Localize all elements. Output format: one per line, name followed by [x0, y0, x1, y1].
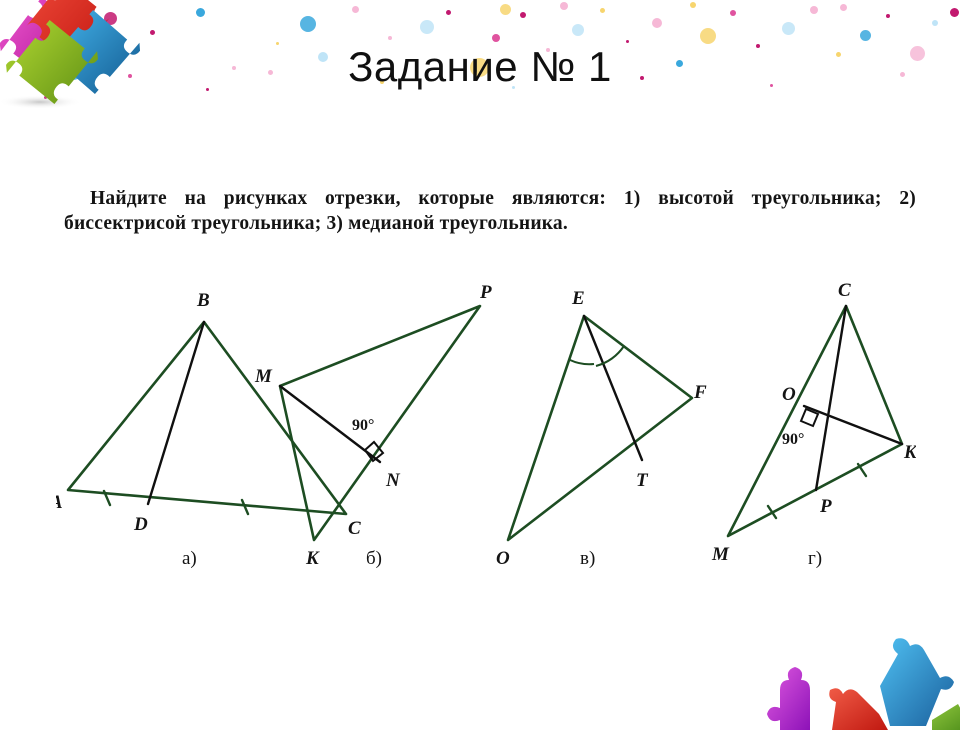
- confetti-dot: [810, 6, 818, 14]
- confetti-dot: [500, 4, 511, 15]
- triangle-oef-sides: [508, 316, 692, 540]
- label-b-vertex-K: K: [305, 548, 320, 568]
- label-d-vertex-P: P: [819, 496, 832, 517]
- confetti-dot: [560, 2, 568, 10]
- confetti-dot: [104, 12, 117, 25]
- label-a-vertex-D: D: [133, 514, 148, 535]
- confetti-dot: [730, 10, 736, 16]
- label-c-vertex-T: T: [636, 470, 649, 491]
- label-b-vertex-N: N: [385, 470, 401, 491]
- label-d-vertex-M: M: [711, 544, 730, 565]
- confetti-dot: [572, 24, 584, 36]
- figure-c: E F O T в): [496, 288, 707, 568]
- confetti-dot: [600, 8, 605, 13]
- label-c-vertex-F: F: [693, 382, 707, 403]
- median-bd: [148, 322, 204, 504]
- figure-b: M K P N 90° б): [254, 282, 492, 568]
- confetti-dot: [196, 8, 205, 17]
- confetti-dot: [886, 14, 890, 18]
- problem-statement: Найдите на рисунках отрезки, которые явл…: [64, 186, 916, 236]
- worksheet-scan: Найдите на рисунках отрезки, которые явл…: [56, 186, 916, 566]
- label-b-vertex-M: M: [254, 366, 273, 387]
- confetti-dot: [860, 30, 871, 41]
- slide-canvas: Задание № 1 Найдите на рисунках отрезки,…: [0, 0, 960, 720]
- confetti-dot: [626, 40, 629, 43]
- angle-label-d: 90°: [782, 431, 804, 448]
- confetti-dot: [520, 12, 526, 18]
- label-a-vertex-A: A: [56, 492, 63, 513]
- confetti-dot: [950, 8, 959, 17]
- confetti-dot: [44, 96, 47, 99]
- confetti-dot: [150, 30, 155, 35]
- caption-fig-b: б): [366, 548, 382, 568]
- angle-label-b: 90°: [352, 417, 374, 434]
- figure-d: C K M O P 90° г): [711, 280, 916, 568]
- caption-fig-a: а): [182, 548, 197, 568]
- figure-a: A B C D а): [56, 290, 361, 568]
- confetti-dot: [932, 20, 938, 26]
- label-a-vertex-B: B: [196, 290, 210, 311]
- label-c-vertex-O: O: [496, 548, 510, 568]
- triangle-mkp-sides: [280, 306, 480, 540]
- label-c-vertex-E: E: [571, 288, 585, 309]
- label-b-vertex-P: P: [479, 282, 492, 303]
- puzzle-decoration-bottom-right: [740, 630, 960, 730]
- confetti-dot: [700, 28, 716, 44]
- problem-line-1: Найдите на рисунках отрезки, которые явл…: [90, 188, 734, 209]
- figures-row: A B C D а) M K P N 90°: [56, 278, 916, 568]
- confetti-dot: [690, 2, 696, 8]
- confetti-dot: [492, 34, 500, 42]
- confetti-dot: [652, 18, 662, 28]
- caption-fig-c: в): [580, 548, 595, 568]
- label-d-vertex-C: C: [838, 280, 851, 301]
- confetti-dot: [300, 16, 316, 32]
- confetti-dot: [420, 20, 434, 34]
- problem-line-3: треугольника.: [440, 213, 568, 234]
- confetti-dot: [388, 36, 392, 40]
- confetti-dot: [352, 6, 359, 13]
- angle-arc-1: [570, 360, 594, 364]
- label-a-vertex-C: C: [348, 518, 361, 539]
- altitude-ko: [804, 406, 902, 444]
- label-d-vertex-O: O: [782, 384, 796, 405]
- page-title: Задание № 1: [0, 44, 960, 90]
- confetti-dot: [782, 22, 795, 35]
- label-d-vertex-K: K: [903, 442, 916, 463]
- triangle-abc-sides: [68, 322, 346, 514]
- caption-fig-d: г): [808, 548, 822, 568]
- confetti-dot: [446, 10, 451, 15]
- tick-dc: [242, 500, 248, 514]
- confetti-dot: [840, 4, 847, 11]
